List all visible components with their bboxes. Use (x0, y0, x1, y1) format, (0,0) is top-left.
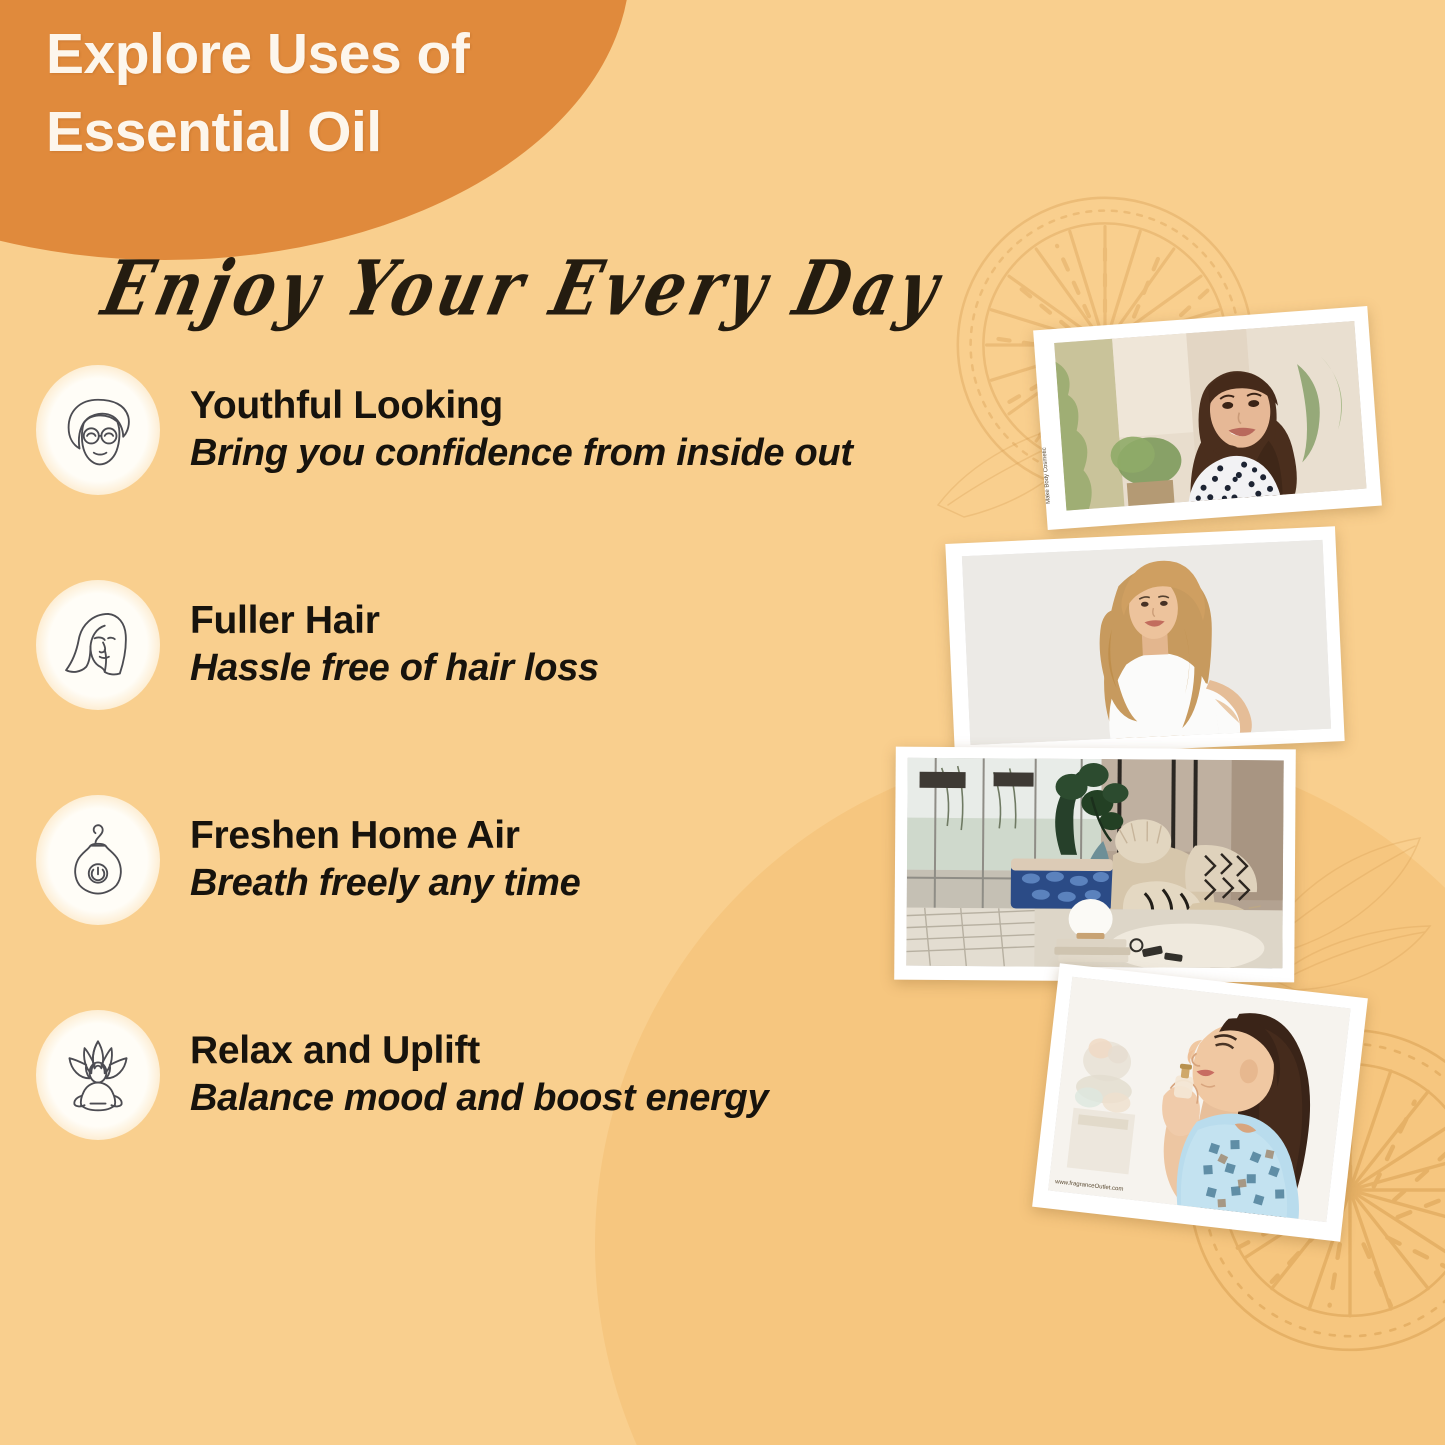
tagline: Enjoy Your Every Day (95, 244, 952, 333)
feature-title: Fuller Hair (190, 598, 599, 644)
feature-subtitle: Balance mood and boost energy (190, 1076, 768, 1122)
feature-row-fuller-hair: Fuller Hair Hassle free of hair loss (0, 570, 1050, 720)
feature-title: Freshen Home Air (190, 813, 580, 859)
feature-text-relax-and-uplift: Relax and Uplift Balance mood and boost … (190, 1028, 768, 1122)
oil-diffuser-icon (36, 795, 160, 925)
infographic-canvas: Explore Uses of Essential Oil Enjoy Your… (0, 0, 1445, 1445)
photo-cozy-living-room (894, 747, 1296, 983)
face-mask-icon (36, 365, 160, 495)
photo-woman-spraying-perfume: www.fragranceOutlet.com (1032, 963, 1368, 1242)
photo-woman-smiling-image (1054, 321, 1366, 511)
page-title: Explore Uses of Essential Oil (46, 16, 606, 171)
photo-woman-long-wavy-hair (945, 526, 1344, 758)
photo-woman-smiling: Make Body Cosmetic (1033, 306, 1382, 530)
feature-title: Relax and Uplift (190, 1028, 768, 1074)
feature-subtitle: Bring you confidence from inside out (190, 431, 853, 477)
feature-text-youthful-looking: Youthful Looking Bring you confidence fr… (190, 383, 853, 477)
feature-row-youthful-looking: Youthful Looking Bring you confidence fr… (0, 355, 1050, 505)
feature-row-freshen-home-air: Freshen Home Air Breath freely any time (0, 785, 1050, 935)
feature-subtitle: Breath freely any time (190, 861, 580, 907)
photo-cozy-living-room-image (906, 758, 1283, 969)
page-title-line1: Explore Uses of (46, 22, 469, 86)
long-hair-profile-icon (36, 580, 160, 710)
page-title-line2: Essential Oil (46, 94, 606, 172)
feature-row-relax-and-uplift: Relax and Uplift Balance mood and boost … (0, 1000, 1050, 1150)
photo-woman-long-wavy-hair-image (962, 540, 1331, 745)
feature-list: Youthful Looking Bring you confidence fr… (0, 355, 1050, 1215)
lotus-meditation-icon (36, 1010, 160, 1140)
feature-text-freshen-home-air: Freshen Home Air Breath freely any time (190, 813, 580, 907)
feature-text-fuller-hair: Fuller Hair Hassle free of hair loss (190, 598, 599, 692)
feature-subtitle: Hassle free of hair loss (190, 646, 599, 692)
feature-title: Youthful Looking (190, 383, 853, 429)
